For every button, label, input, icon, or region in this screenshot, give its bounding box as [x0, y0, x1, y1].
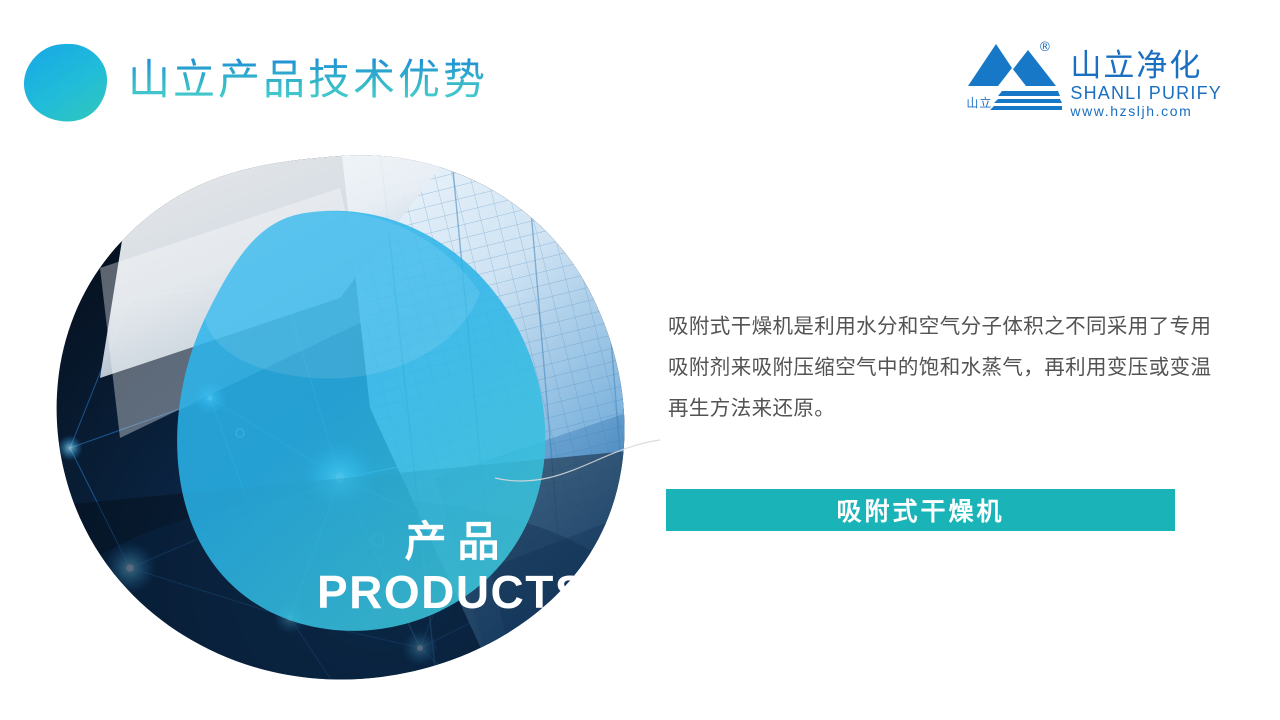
- product-name-banner-label: 吸附式干燥机: [836, 492, 1004, 528]
- product-blob-graphic: 产品 PRODUCTS: [40, 148, 660, 693]
- registered-trademark-icon: ®: [1038, 40, 1051, 55]
- logo-mark-caption: 山立: [966, 94, 992, 111]
- company-logo: ® 山立 山立净化 SHANLI PURIFY www.hzsljh.com: [966, 38, 1222, 121]
- page-title: 山立产品技术优势: [128, 58, 488, 102]
- logo-company-name-en: SHANLI PURIFY: [1070, 83, 1222, 104]
- description-text: 吸附式干燥机是利用水分和空气分子体积之不同采用了专用吸附剂来吸附压缩空气中的饱和…: [668, 306, 1213, 429]
- logo-company-name-cn: 山立净化: [1070, 50, 1222, 83]
- product-name-banner: 吸附式干燥机: [666, 489, 1175, 531]
- slide-root: 山立产品技术优势 ® 山立 山立净化 SHANLI PURIFY www.hzs…: [0, 0, 1280, 720]
- blob-icon: [22, 42, 110, 124]
- logo-website-url: www.hzsljh.com: [1070, 103, 1222, 121]
- mountain-logo-icon: ® 山立: [966, 38, 1062, 116]
